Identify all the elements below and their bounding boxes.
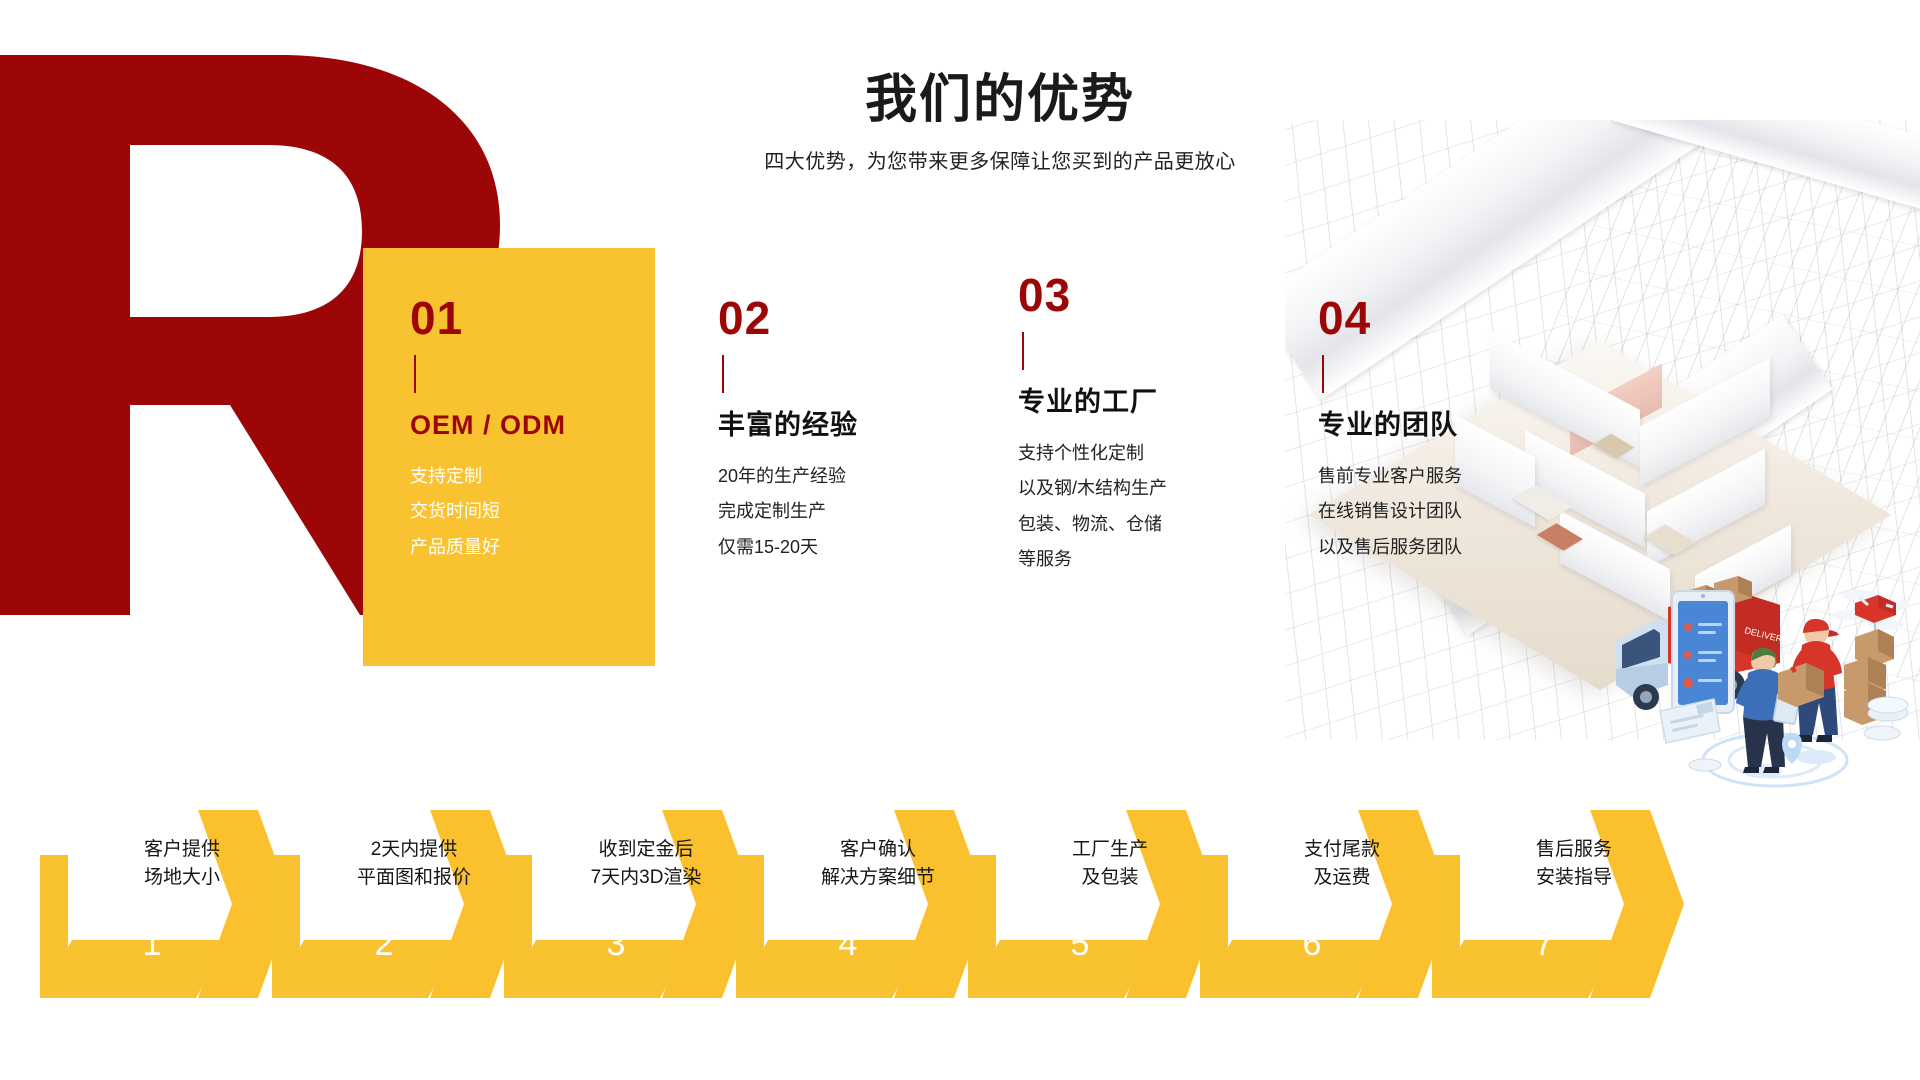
advantage-lines: 支持个性化定制 以及钢/木结构生产 包装、物流、仓储 等服务 xyxy=(1018,436,1167,576)
process-flow: 客户提供 场地大小 1 2天内提供 平面图和报价 2 xyxy=(0,800,1920,1030)
advantage-line: 仅需15-20天 xyxy=(718,530,858,565)
process-step-label: 支付尾款 及运费 xyxy=(1252,836,1432,891)
process-step-line2: 安装指导 xyxy=(1484,864,1664,892)
process-step-line1: 支付尾款 xyxy=(1252,836,1432,864)
advantage-title: 丰富的经验 xyxy=(718,409,858,441)
advantage-line: 产品质量好 xyxy=(410,530,566,565)
advantage-number: 02 xyxy=(718,295,858,341)
page-subtitle: 四大优势，为您带来更多保障让您买到的产品更放心 xyxy=(640,145,1360,174)
advantage-title: 专业的工厂 xyxy=(1018,386,1167,418)
process-step-label: 收到定金后 7天内3D渲染 xyxy=(556,836,736,891)
advantage-title: 专业的团队 xyxy=(1318,409,1462,441)
advantage-line: 售前专业客户服务 xyxy=(1318,459,1462,494)
advantage-line: 支持个性化定制 xyxy=(1018,436,1167,471)
process-step-line1: 工厂生产 xyxy=(1020,836,1200,864)
advantage-divider xyxy=(722,355,724,393)
process-step-number: 3 xyxy=(576,925,656,964)
advantage-lines: 售前专业客户服务 在线销售设计团队 以及售后服务团队 xyxy=(1318,459,1462,564)
process-step-line1: 2天内提供 xyxy=(324,836,504,864)
process-step-line2: 7天内3D渲染 xyxy=(556,864,736,892)
mobile-phone-icon xyxy=(1672,591,1734,713)
receipt-card-icon xyxy=(1660,699,1720,743)
process-step-6[interactable]: 支付尾款 及运费 6 xyxy=(1190,800,1452,1030)
process-step-label: 工厂生产 及包装 xyxy=(1020,836,1200,891)
process-arrow-shape xyxy=(1190,800,1452,1030)
process-step-line2: 及运费 xyxy=(1252,864,1432,892)
advantage-title: OEM / ODM xyxy=(410,409,566,441)
advantage-line: 20年的生产经验 xyxy=(718,459,858,494)
advantage-number: 01 xyxy=(410,295,566,341)
advantage-card-04[interactable]: 04 专业的团队 售前专业客户服务 在线销售设计团队 以及售后服务团队 xyxy=(1318,295,1462,565)
advantage-divider xyxy=(414,355,416,393)
process-step-line1: 客户提供 xyxy=(92,836,272,864)
process-step-3[interactable]: 收到定金后 7天内3D渲染 3 xyxy=(494,800,756,1030)
process-arrow-shape xyxy=(1422,800,1684,1030)
process-step-7[interactable]: 售后服务 安装指导 7 xyxy=(1422,800,1684,1030)
advantage-line: 完成定制生产 xyxy=(718,494,858,529)
delivery-illustration: DELIVERY xyxy=(1610,545,1920,795)
process-step-line2: 平面图和报价 xyxy=(324,864,504,892)
advantage-line: 等服务 xyxy=(1018,542,1167,577)
process-step-2[interactable]: 2天内提供 平面图和报价 2 xyxy=(262,800,524,1030)
process-step-label: 客户确认 解决方案细节 xyxy=(788,836,968,891)
process-step-number: 5 xyxy=(1040,925,1120,964)
process-step-number: 7 xyxy=(1504,925,1584,964)
process-step-label: 客户提供 场地大小 xyxy=(92,836,272,891)
process-step-5[interactable]: 工厂生产 及包装 5 xyxy=(958,800,1220,1030)
advantage-lines: 支持定制 交货时间短 产品质量好 xyxy=(410,459,566,564)
advantage-divider xyxy=(1322,355,1324,393)
advantage-card-03[interactable]: 03 专业的工厂 支持个性化定制 以及钢/木结构生产 包装、物流、仓储 等服务 xyxy=(1018,272,1167,577)
advantage-line: 包装、物流、仓储 xyxy=(1018,507,1167,542)
process-step-label: 售后服务 安装指导 xyxy=(1484,836,1664,891)
process-arrow-shape xyxy=(262,800,524,1030)
process-arrow-shape xyxy=(726,800,988,1030)
process-arrow-shape xyxy=(30,800,292,1030)
process-step-4[interactable]: 客户确认 解决方案细节 4 xyxy=(726,800,988,1030)
process-step-line2: 解决方案细节 xyxy=(788,864,968,892)
process-step-number: 4 xyxy=(808,925,888,964)
advantage-lines: 20年的生产经验 完成定制生产 仅需15-20天 xyxy=(718,459,858,564)
process-step-number: 6 xyxy=(1272,925,1352,964)
process-step-number: 2 xyxy=(344,925,424,964)
process-step-1[interactable]: 客户提供 场地大小 1 xyxy=(30,800,292,1030)
process-step-line1: 售后服务 xyxy=(1484,836,1664,864)
page-title: 我们的优势 xyxy=(640,72,1360,129)
advantage-card-02[interactable]: 02 丰富的经验 20年的生产经验 完成定制生产 仅需15-20天 xyxy=(718,295,858,565)
advantage-line: 以及钢/木结构生产 xyxy=(1018,471,1167,506)
process-arrow-shape xyxy=(494,800,756,1030)
advantage-divider xyxy=(1022,332,1024,370)
poster-canvas: 我们的优势 四大优势，为您带来更多保障让您买到的产品更放心 01 OEM / O… xyxy=(0,0,1920,1080)
advantage-number: 03 xyxy=(1018,272,1167,318)
heading-block: 我们的优势 四大优势，为您带来更多保障让您买到的产品更放心 xyxy=(640,72,1360,174)
advantage-number: 04 xyxy=(1318,295,1462,341)
advantage-line: 在线销售设计团队 xyxy=(1318,494,1462,529)
process-step-line1: 客户确认 xyxy=(788,836,968,864)
process-step-line2: 及包装 xyxy=(1020,864,1200,892)
process-step-label: 2天内提供 平面图和报价 xyxy=(324,836,504,891)
advantage-line: 以及售后服务团队 xyxy=(1318,530,1462,565)
delivery-drone-icon xyxy=(1832,590,1911,667)
process-arrow-shape xyxy=(958,800,1220,1030)
advantage-line: 支持定制 xyxy=(410,459,566,494)
process-step-line2: 场地大小 xyxy=(92,864,272,892)
advantage-line: 交货时间短 xyxy=(410,494,566,529)
process-step-line1: 收到定金后 xyxy=(556,836,736,864)
process-step-number: 1 xyxy=(112,925,192,964)
advantage-card-01[interactable]: 01 OEM / ODM 支持定制 交货时间短 产品质量好 xyxy=(410,295,566,565)
